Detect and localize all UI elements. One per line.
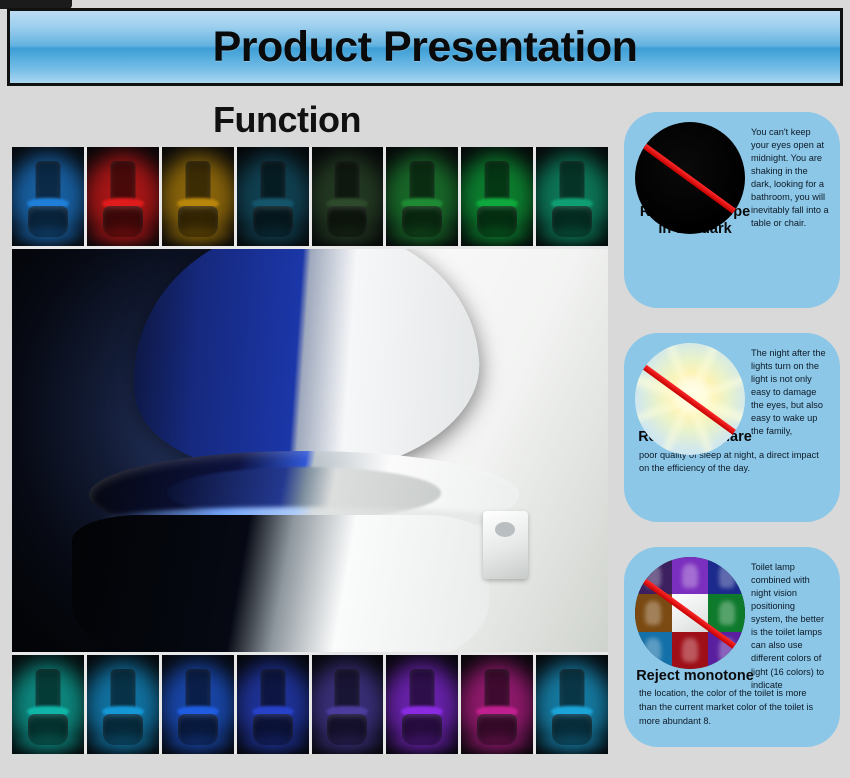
- feature-card-list: You can't keep your eyes open at midnigh…: [624, 112, 840, 772]
- floor-reflection: [239, 230, 307, 240]
- grid-tile: [635, 632, 672, 669]
- floor-reflection: [538, 230, 606, 240]
- toilet-light-thumbnail: [162, 147, 234, 246]
- toilet-tank: [410, 161, 435, 201]
- toilet-light-thumbnail: [237, 147, 309, 246]
- toilet-tank: [35, 669, 60, 709]
- page-title: Product Presentation: [213, 26, 638, 69]
- floor-reflection: [388, 738, 456, 748]
- toilet-tank: [560, 161, 585, 201]
- toilet-tank: [260, 669, 285, 709]
- product-presentation-page: Product Presentation Function: [0, 0, 850, 778]
- toilet-tank: [560, 669, 585, 709]
- color-thumbnail-row-bottom: [12, 655, 608, 754]
- card-title: Reject monotone: [635, 668, 755, 685]
- floor-reflection: [164, 230, 232, 240]
- floor-reflection: [164, 738, 232, 748]
- dark-circle-no-symbol-icon: [635, 122, 745, 234]
- product-collage: [12, 147, 608, 754]
- grid-tile: [708, 557, 745, 594]
- toilet-light-thumbnail: [87, 147, 159, 246]
- floor-reflection: [388, 230, 456, 240]
- toilet-tank: [485, 669, 510, 709]
- card-top: The night after the lights turn on the l…: [635, 343, 829, 455]
- toilet-light-thumbnail: [237, 655, 309, 754]
- floor-reflection: [538, 738, 606, 748]
- floor-reflection: [313, 738, 381, 748]
- toilet-light-thumbnail: [87, 655, 159, 754]
- card-side-text: The night after the lights turn on the l…: [751, 343, 829, 438]
- title-banner: Product Presentation: [7, 8, 843, 86]
- toilet-light-thumbnail: [12, 147, 84, 246]
- toilet-light-thumbnail: [12, 655, 84, 754]
- motion-sensor-light-device: [483, 511, 528, 580]
- toilet-tank: [410, 669, 435, 709]
- feature-card-refused-to-glare: The night after the lights turn on the l…: [624, 333, 840, 522]
- color-grid-no-symbol-icon: [635, 557, 745, 669]
- red-slash-icon: [641, 363, 744, 440]
- toilet-bowl: [72, 515, 489, 652]
- toilet-light-thumbnail: [312, 147, 384, 246]
- toilet-light-thumbnail: [536, 147, 608, 246]
- toilet-light-thumbnail: [386, 147, 458, 246]
- grid-tile: [708, 594, 745, 631]
- toilet-light-thumbnail: [162, 655, 234, 754]
- toilet-tank: [260, 161, 285, 201]
- floor-reflection: [89, 230, 157, 240]
- toilet-tank: [485, 161, 510, 201]
- toilet-light-thumbnail: [312, 655, 384, 754]
- toilet-light-thumbnail: [461, 655, 533, 754]
- floor-reflection: [89, 738, 157, 748]
- toilet-tank: [35, 161, 60, 201]
- toilet-tank: [110, 669, 135, 709]
- card-side-text: You can't keep your eyes open at midnigh…: [751, 122, 829, 231]
- main-split-product-image: [12, 249, 608, 652]
- toilet-tank: [185, 161, 210, 201]
- toilet-light-thumbnail: [536, 655, 608, 754]
- floor-reflection: [463, 230, 531, 240]
- toilet-tank: [335, 161, 360, 201]
- floor-reflection: [313, 230, 381, 240]
- red-slash-icon: [641, 142, 744, 219]
- card-foot-text: [635, 239, 829, 240]
- color-thumbnail-row-top: [12, 147, 608, 246]
- toilet-tank: [185, 669, 210, 709]
- card-side-text: Toilet lamp combined with night vision p…: [751, 557, 829, 692]
- floor-reflection: [14, 230, 82, 240]
- grid-tile: [672, 557, 709, 594]
- section-heading: Function: [213, 99, 361, 141]
- feature-card-reject-monotone: Toilet lamp combined with night vision p…: [624, 547, 840, 747]
- bright-sun-no-symbol-icon: [635, 343, 745, 455]
- floor-reflection: [463, 738, 531, 748]
- floor-reflection: [239, 738, 307, 748]
- toilet-tank: [335, 669, 360, 709]
- toilet-light-thumbnail: [461, 147, 533, 246]
- card-foot-text: the location, the color of the toilet is…: [635, 686, 829, 728]
- grid-tile: [672, 632, 709, 669]
- toilet-light-thumbnail: [386, 655, 458, 754]
- floor-reflection: [14, 738, 82, 748]
- feature-card-refuse-to-grope: You can't keep your eyes open at midnigh…: [624, 112, 840, 308]
- toilet-tank: [110, 161, 135, 201]
